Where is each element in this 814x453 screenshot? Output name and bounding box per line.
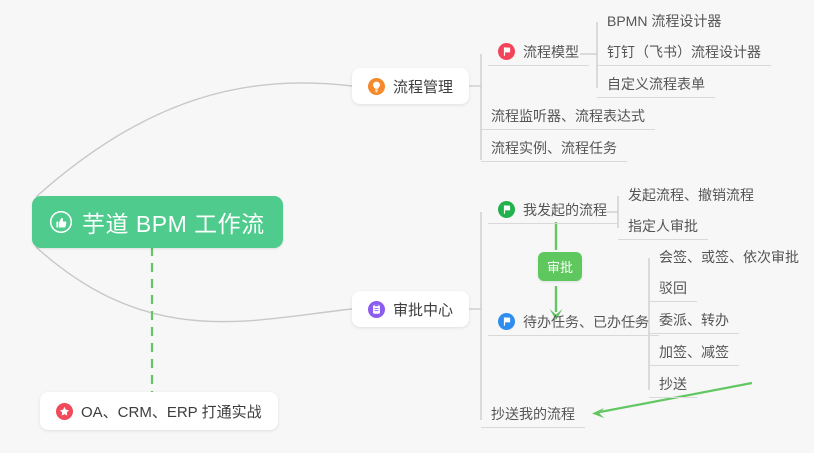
node-label: 流程监听器、流程表达式 (491, 108, 645, 124)
branch-process-management[interactable]: 流程管理 (352, 68, 469, 104)
node-assignee-approval[interactable]: 指定人审批 (618, 214, 708, 240)
node-my-initiated[interactable]: 我发起的流程 (488, 198, 617, 224)
node-countersign[interactable]: 会签、或签、依次审批 (649, 244, 809, 270)
thumbs-up-icon (50, 211, 72, 233)
badge-label: 审批 (547, 260, 573, 275)
root-label: 芋道 BPM 工作流 (82, 205, 265, 239)
node-process-instance[interactable]: 流程实例、流程任务 (481, 136, 627, 162)
mindmap-canvas: 芋道 BPM 工作流 流程管理 流程模型 BPMN 流程设计器 钉钉（飞书）流程… (0, 0, 814, 453)
node-label: BPMN 流程设计器 (607, 13, 721, 29)
node-bpmn-designer[interactable]: BPMN 流程设计器 (597, 8, 731, 34)
branch-label: 审批中心 (393, 299, 453, 320)
node-label: 待办任务、已办任务 (523, 314, 649, 330)
node-carbon-copy[interactable]: 抄送 (649, 372, 697, 398)
star-icon (56, 403, 73, 420)
node-cc-to-me[interactable]: 抄送我的流程 (481, 402, 585, 428)
node-label: 会签、或签、依次审批 (659, 249, 799, 265)
clipboard-icon (368, 301, 385, 318)
flag-icon (498, 43, 515, 60)
footer-note-integration[interactable]: OA、CRM、ERP 打通实战 (40, 392, 278, 430)
node-delegate-transfer[interactable]: 委派、转办 (649, 308, 739, 334)
node-label: 流程模型 (523, 44, 579, 60)
node-custom-form[interactable]: 自定义流程表单 (597, 72, 715, 98)
node-label: 我发起的流程 (523, 202, 607, 218)
node-start-cancel-process[interactable]: 发起流程、撤销流程 (618, 182, 764, 208)
root-node[interactable]: 芋道 BPM 工作流 (32, 196, 283, 248)
node-label: 委派、转办 (659, 312, 729, 328)
flag-icon (498, 313, 515, 330)
branch-label: 流程管理 (393, 76, 453, 97)
node-label: 指定人审批 (628, 218, 698, 234)
node-process-listener[interactable]: 流程监听器、流程表达式 (481, 104, 655, 130)
node-dingtalk-designer[interactable]: 钉钉（飞书）流程设计器 (597, 40, 771, 66)
node-label: 自定义流程表单 (607, 76, 705, 92)
node-label: 发起流程、撤销流程 (628, 187, 754, 203)
node-process-model[interactable]: 流程模型 (488, 40, 589, 66)
node-label: 抄送 (659, 376, 687, 392)
footer-note-label: OA、CRM、ERP 打通实战 (81, 401, 262, 422)
node-label: 流程实例、流程任务 (491, 140, 617, 156)
approval-badge: 审批 (538, 252, 582, 281)
lightbulb-icon (368, 78, 385, 95)
flag-icon (498, 201, 515, 218)
node-label: 钉钉（飞书）流程设计器 (607, 44, 761, 60)
branch-approval-center[interactable]: 审批中心 (352, 291, 469, 327)
node-todo-done-tasks[interactable]: 待办任务、已办任务 (488, 310, 659, 336)
node-label: 抄送我的流程 (491, 406, 575, 422)
node-label: 驳回 (659, 280, 687, 296)
node-label: 加签、减签 (659, 344, 729, 360)
node-reject[interactable]: 驳回 (649, 276, 697, 302)
node-add-remove-sign[interactable]: 加签、减签 (649, 340, 739, 366)
